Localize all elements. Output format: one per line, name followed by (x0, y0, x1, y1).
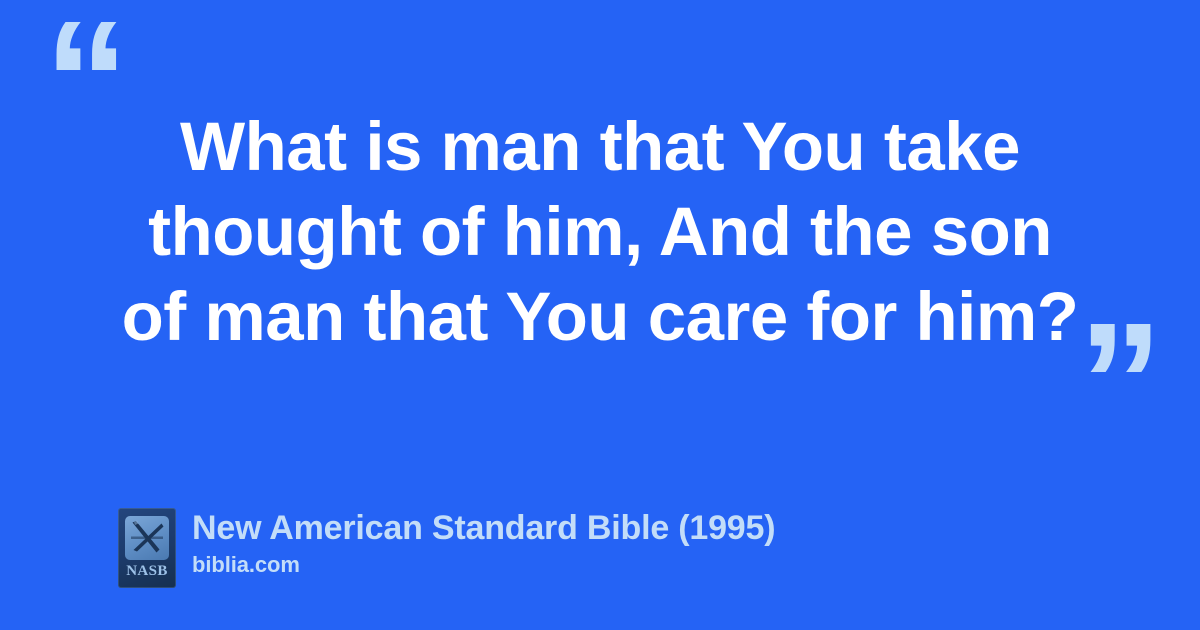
quote-line: of man that You care for him? (70, 274, 1130, 359)
translation-name: New American Standard Bible (1995) (192, 508, 775, 548)
attribution-footer: NASB New American Standard Bible (1995) … (118, 508, 775, 588)
attribution-text-group: New American Standard Bible (1995) bibli… (192, 508, 775, 578)
nasb-logo-icon: NASB (118, 508, 176, 588)
quote-text-block: What is man that You take thought of him… (0, 104, 1200, 359)
sword-quill-cross-icon (125, 516, 169, 560)
website-label[interactable]: biblia.com (192, 552, 775, 578)
quote-line: thought of him, And the son (70, 189, 1130, 274)
nasb-logo-inner-square (125, 516, 169, 560)
quote-line: What is man that You take (70, 104, 1130, 189)
nasb-logo-label: NASB (118, 564, 176, 579)
verse-card: “ What is man that You take thought of h… (0, 0, 1200, 630)
